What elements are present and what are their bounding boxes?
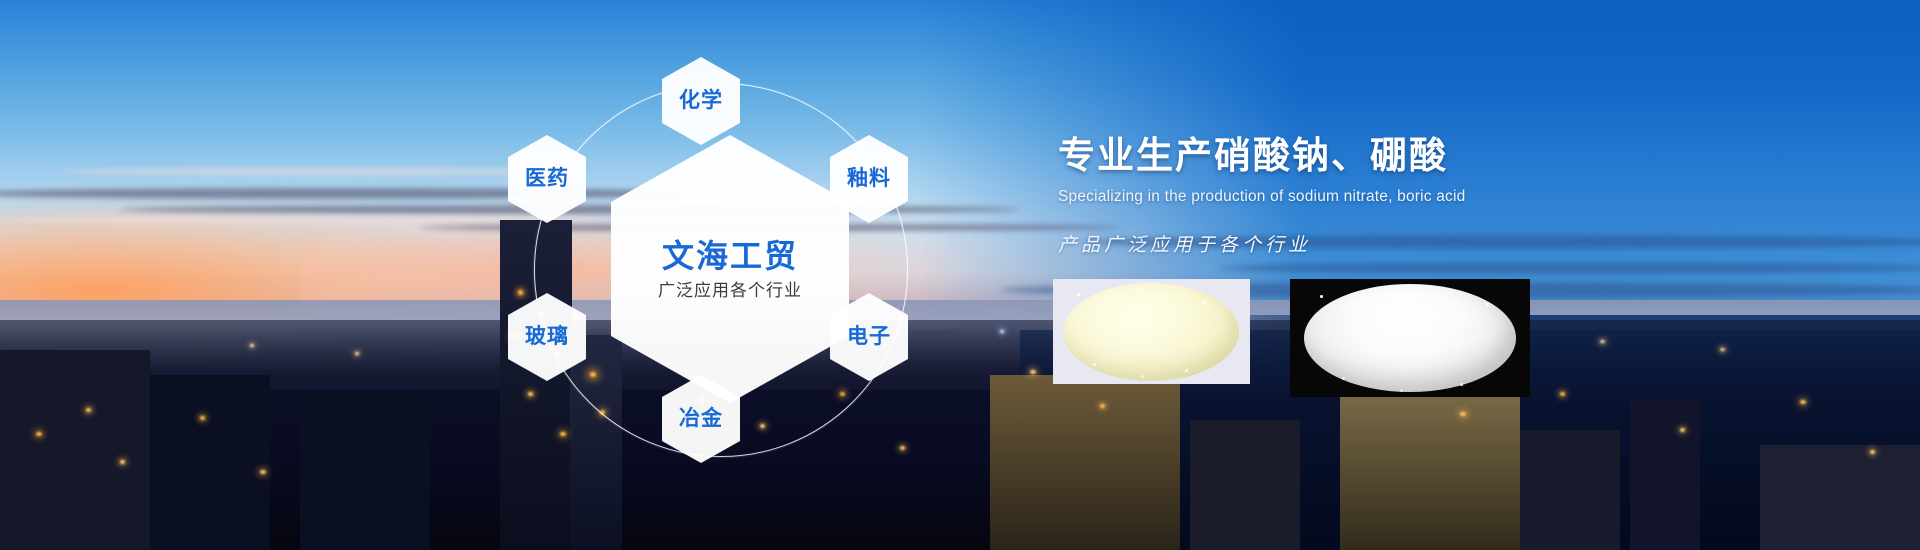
promotional-banner: 化学 釉料 电子 冶金 玻璃 医药 文海工贸 广泛应用各个行业 专业生产硝酸钠、… bbox=[0, 0, 1920, 550]
tagline: 产品广泛应用于各个行业 bbox=[1058, 230, 1838, 257]
hex-node-label: 电子 bbox=[847, 325, 891, 349]
subheadline: Specializing in the production of sodium… bbox=[1058, 188, 1838, 206]
headline: 专业生产硝酸钠、硼酸 bbox=[1058, 125, 1838, 179]
industry-hexagon-cluster: 化学 釉料 电子 冶金 玻璃 医药 文海工贸 广泛应用各个行业 bbox=[520, 35, 940, 515]
hex-node-label: 化学 bbox=[679, 89, 723, 113]
hex-node-label: 医药 bbox=[525, 167, 569, 191]
city-lights bbox=[0, 0, 1920, 550]
powder-pile bbox=[1304, 284, 1516, 392]
marketing-copy: 专业生产硝酸钠、硼酸 Specializing in the productio… bbox=[1058, 125, 1838, 257]
company-name: 文海工贸 bbox=[662, 238, 798, 275]
hex-node-label: 釉料 bbox=[847, 167, 891, 191]
product-photo-sodium-nitrate[interactable] bbox=[1053, 279, 1250, 384]
hex-node-label: 冶金 bbox=[679, 407, 723, 431]
hex-node-label: 玻璃 bbox=[525, 325, 569, 349]
product-photo-group bbox=[1053, 279, 1530, 397]
powder-pile bbox=[1063, 283, 1239, 381]
cityscape-background bbox=[0, 0, 1920, 550]
product-photo-boric-acid[interactable] bbox=[1290, 279, 1530, 397]
company-tagline: 广泛应用各个行业 bbox=[658, 281, 802, 301]
